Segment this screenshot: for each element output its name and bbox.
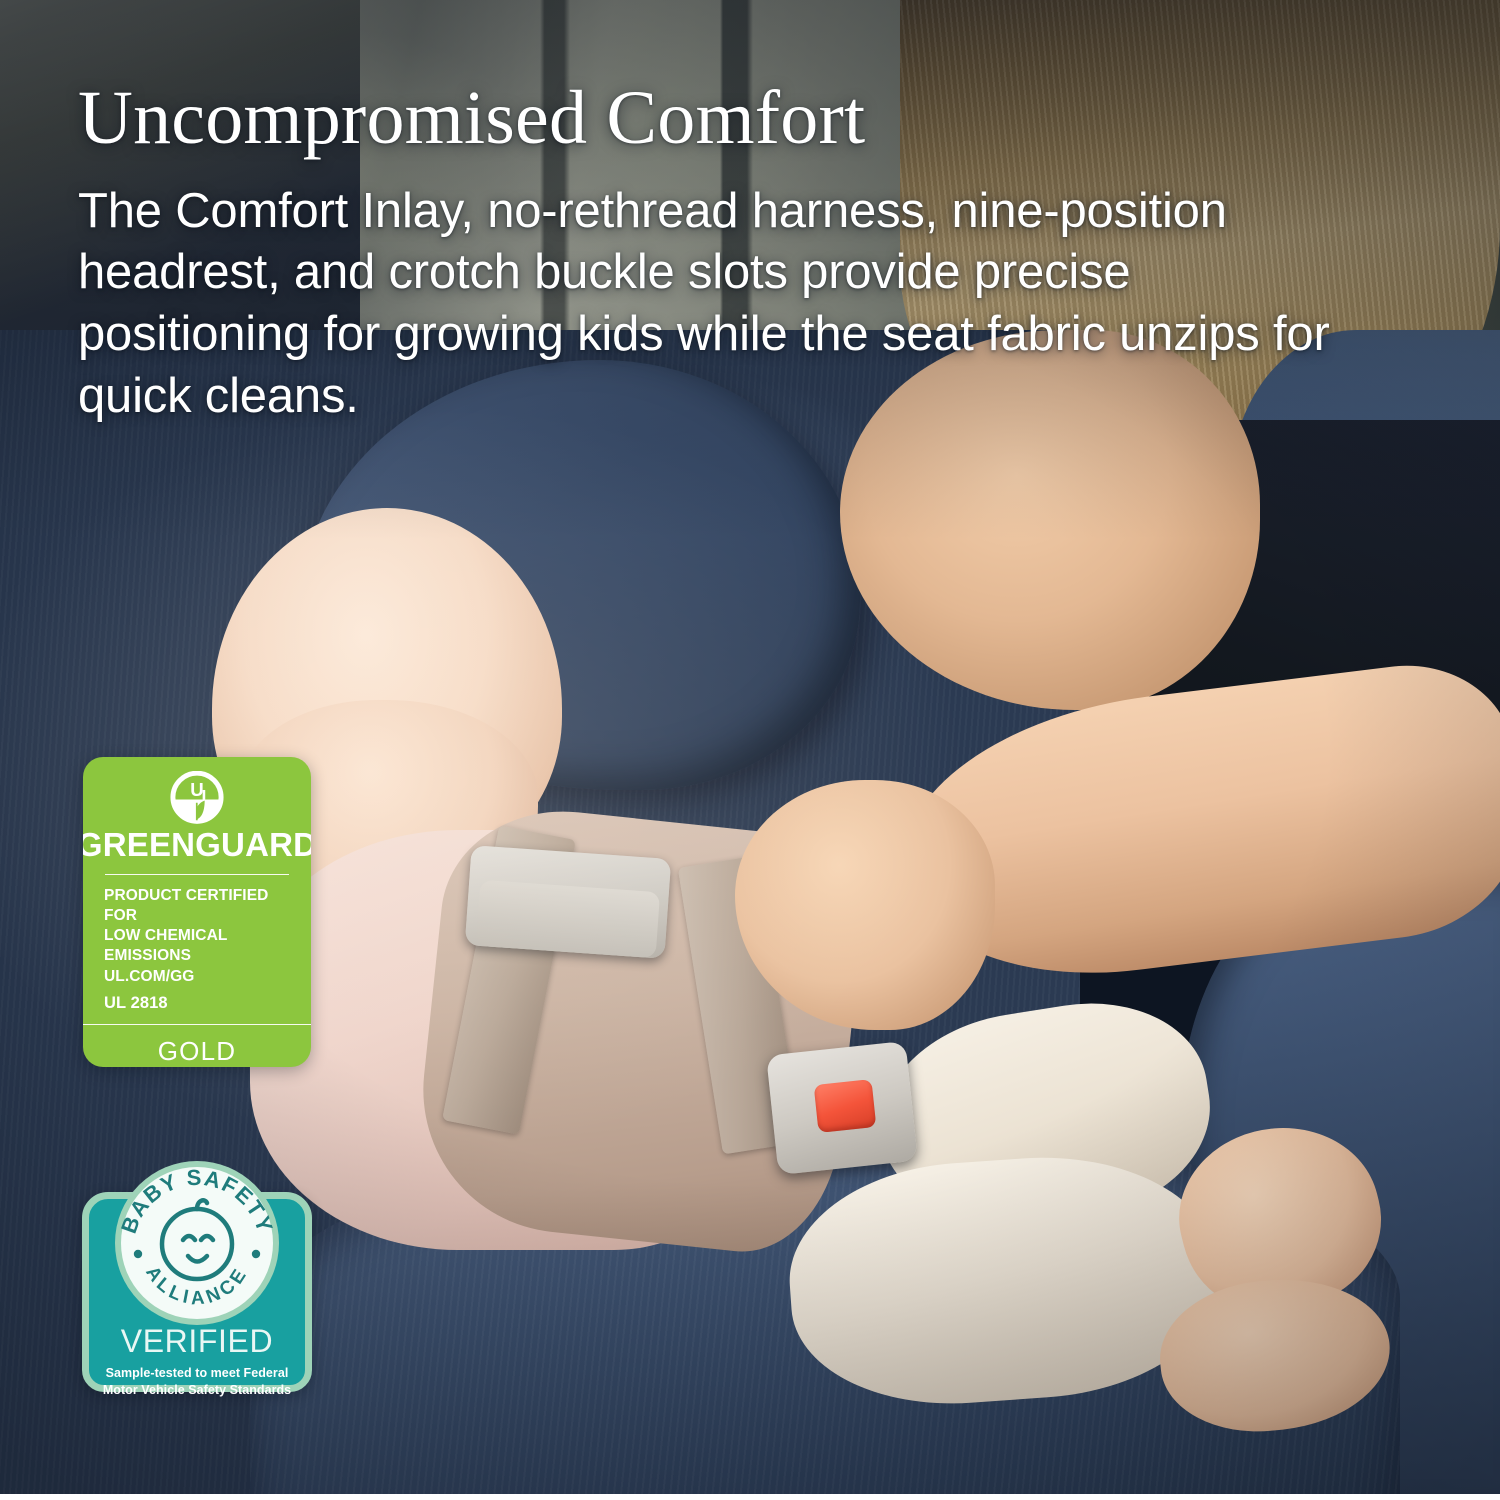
greenguard-fine-line-3: UL.COM/GG [104, 967, 290, 987]
greenguard-level: GOLD [158, 1036, 236, 1067]
product-feature-banner: Uncompromised Comfort The Comfort Inlay,… [0, 0, 1500, 1500]
bsa-status: VERIFIED [82, 1325, 312, 1357]
bsa-fine-line-2: Motor Vehicle Safety Standards [82, 1382, 312, 1399]
greenguard-fine-line-1: PRODUCT CERTIFIED FOR [104, 886, 290, 926]
ul-leaf-mark: U L [145, 771, 249, 824]
greenguard-divider-top [105, 874, 289, 875]
bottom-edge-strip [0, 1494, 1500, 1500]
greenguard-standard: UL 2818 [104, 994, 290, 1013]
baby-safety-alliance-seal: BABY SAFETY ALLIANCE [114, 1160, 280, 1326]
greenguard-gold-badge: U L GREENGUARD PRODUCT CERTIFIED FOR LOW… [83, 757, 311, 1067]
page-title: Uncompromised Comfort [78, 78, 1368, 159]
bsa-fine-line-1: Sample-tested to meet Federal [82, 1365, 312, 1382]
greenguard-fine-print: PRODUCT CERTIFIED FOR LOW CHEMICAL EMISS… [104, 886, 290, 987]
buckle-release-button [814, 1079, 877, 1133]
body-copy: The Comfort Inlay, no-rethread harness, … [78, 181, 1358, 428]
greenguard-fine-line-2: LOW CHEMICAL EMISSIONS [104, 926, 290, 966]
copy-block: Uncompromised Comfort The Comfort Inlay,… [78, 78, 1368, 427]
greenguard-title: GREENGUARD [83, 828, 311, 861]
chest-clip-face [476, 880, 660, 958]
bsa-text-block: VERIFIED Sample-tested to meet Federal M… [82, 1325, 312, 1399]
baby-safety-alliance-badge: BABY SAFETY ALLIANCE VERIFIED Sample-tes… [82, 1160, 312, 1392]
bsa-fine-print: Sample-tested to meet Federal Motor Vehi… [82, 1365, 312, 1399]
greenguard-divider-bottom [83, 1024, 311, 1025]
